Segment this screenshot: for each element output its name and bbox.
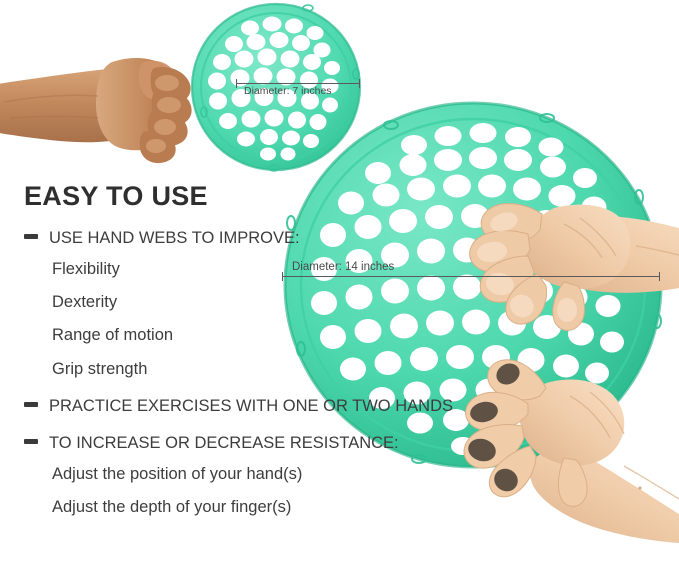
bullet-label: TO INCREASE OR DECREASE RESISTANCE: bbox=[49, 434, 399, 452]
bullet-resistance: TO INCREASE OR DECREASE RESISTANCE: bbox=[24, 434, 524, 452]
dash-icon bbox=[24, 234, 38, 239]
bullet-use-hand-webs: USE HAND WEBS TO IMPROVE: bbox=[24, 229, 524, 247]
bullet-label: PRACTICE EXERCISES WITH ONE OR TWO HANDS bbox=[49, 397, 453, 415]
hand-gripping-small-disc bbox=[0, 24, 244, 194]
measure-cap-left bbox=[236, 79, 237, 88]
measure-line bbox=[236, 83, 360, 84]
dash-icon bbox=[24, 439, 38, 444]
benefit-grip-strength: Grip strength bbox=[52, 360, 524, 378]
benefit-range-of-motion: Range of motion bbox=[52, 326, 524, 344]
measure-cap-right bbox=[659, 272, 660, 281]
bullet-label: USE HAND WEBS TO IMPROVE: bbox=[49, 229, 300, 247]
product-image-canvas: Diameter: 7 inches Diameter: 14 inches E… bbox=[0, 0, 679, 567]
measure-cap-right bbox=[359, 79, 360, 88]
feature-copy-block: EASY TO USE USE HAND WEBS TO IMPROVE: Fl… bbox=[24, 183, 524, 531]
measure-label-small: Diameter: 7 inches bbox=[244, 85, 332, 97]
dash-icon bbox=[24, 402, 38, 407]
benefit-flexibility: Flexibility bbox=[52, 260, 524, 278]
benefit-dexterity: Dexterity bbox=[52, 293, 524, 311]
page-title: EASY TO USE bbox=[24, 183, 524, 210]
tip-adjust-finger-depth: Adjust the depth of your finger(s) bbox=[52, 498, 524, 516]
bullet-practice-exercises: PRACTICE EXERCISES WITH ONE OR TWO HANDS bbox=[24, 397, 524, 415]
tip-adjust-hand-position: Adjust the position of your hand(s) bbox=[52, 465, 524, 483]
